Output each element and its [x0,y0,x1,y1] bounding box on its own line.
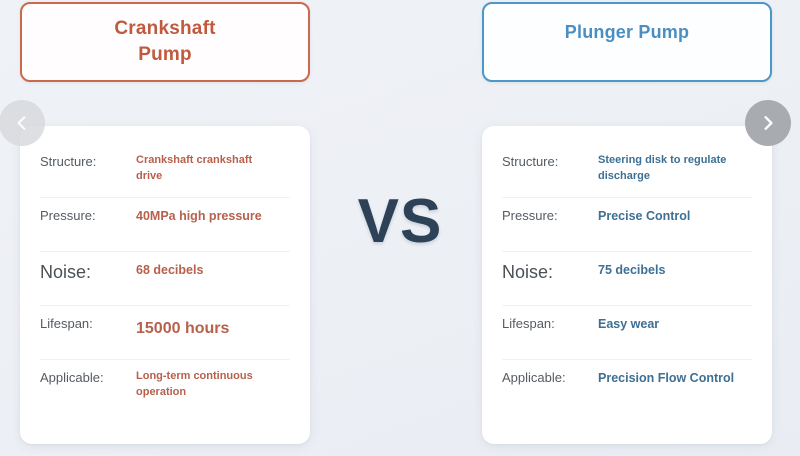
spec-value-structure-right: Steering disk to regulate discharge [594,153,752,185]
spec-row-pressure-left: Pressure: 40MPa high pressure [40,198,290,252]
carousel-prev-button[interactable] [0,100,45,146]
comparison-stage: Crankshaft Pump Structure: Crankshaft cr… [0,0,800,456]
spec-row-structure-right: Structure: Steering disk to regulate dis… [502,144,752,198]
spec-value-lifespan-left: 15000 hours [132,315,290,340]
versus-divider: VS [337,186,463,257]
spec-label-applicable: Applicable: [40,369,132,387]
spec-label-lifespan: Lifespan: [502,315,594,333]
spec-row-structure-left: Structure: Crankshaft crankshaft drive [40,144,290,198]
chevron-left-icon [12,113,32,133]
product-title-card-right[interactable]: Plunger Pump [482,2,772,82]
spec-row-lifespan-right: Lifespan: Easy wear [502,306,752,360]
spec-row-applicable-right: Applicable: Precision Flow Control [502,360,752,413]
chevron-right-icon [758,113,778,133]
spec-label-structure: Structure: [502,153,594,171]
spec-value-applicable-right: Precision Flow Control [594,369,752,387]
spec-label-lifespan: Lifespan: [40,315,132,333]
product-title-card-left[interactable]: Crankshaft Pump [20,2,310,82]
carousel-next-button[interactable] [745,100,791,146]
spec-label-pressure: Pressure: [502,207,594,225]
spec-label-pressure: Pressure: [40,207,132,225]
spec-row-noise-right: Noise: 75 decibels [502,252,752,306]
comparison-panel-right: Plunger Pump Structure: Steering disk to… [482,0,772,456]
product-title-right: Plunger Pump [565,20,689,44]
spec-card-right: Structure: Steering disk to regulate dis… [482,126,772,444]
spec-value-pressure-left: 40MPa high pressure [132,207,290,225]
spec-card-left: Structure: Crankshaft crankshaft drive P… [20,126,310,444]
spec-value-noise-right: 75 decibels [594,261,752,279]
spec-row-lifespan-left: Lifespan: 15000 hours [40,306,290,360]
spec-label-noise: Noise: [502,261,594,284]
spec-value-lifespan-right: Easy wear [594,315,752,333]
spec-row-applicable-left: Applicable: Long-term continuous operati… [40,360,290,413]
spec-row-noise-left: Noise: 68 decibels [40,252,290,306]
spec-value-applicable-left: Long-term continuous operation [132,369,290,401]
spec-label-noise: Noise: [40,261,132,284]
spec-value-structure-left: Crankshaft crankshaft drive [132,153,290,185]
spec-value-noise-left: 68 decibels [132,261,290,279]
product-title-left: Crankshaft Pump [114,16,215,67]
spec-row-pressure-right: Pressure: Precise Control [502,198,752,252]
comparison-panel-left: Crankshaft Pump Structure: Crankshaft cr… [20,0,310,456]
spec-label-structure: Structure: [40,153,132,171]
spec-label-applicable: Applicable: [502,369,594,387]
spec-value-pressure-right: Precise Control [594,207,752,225]
